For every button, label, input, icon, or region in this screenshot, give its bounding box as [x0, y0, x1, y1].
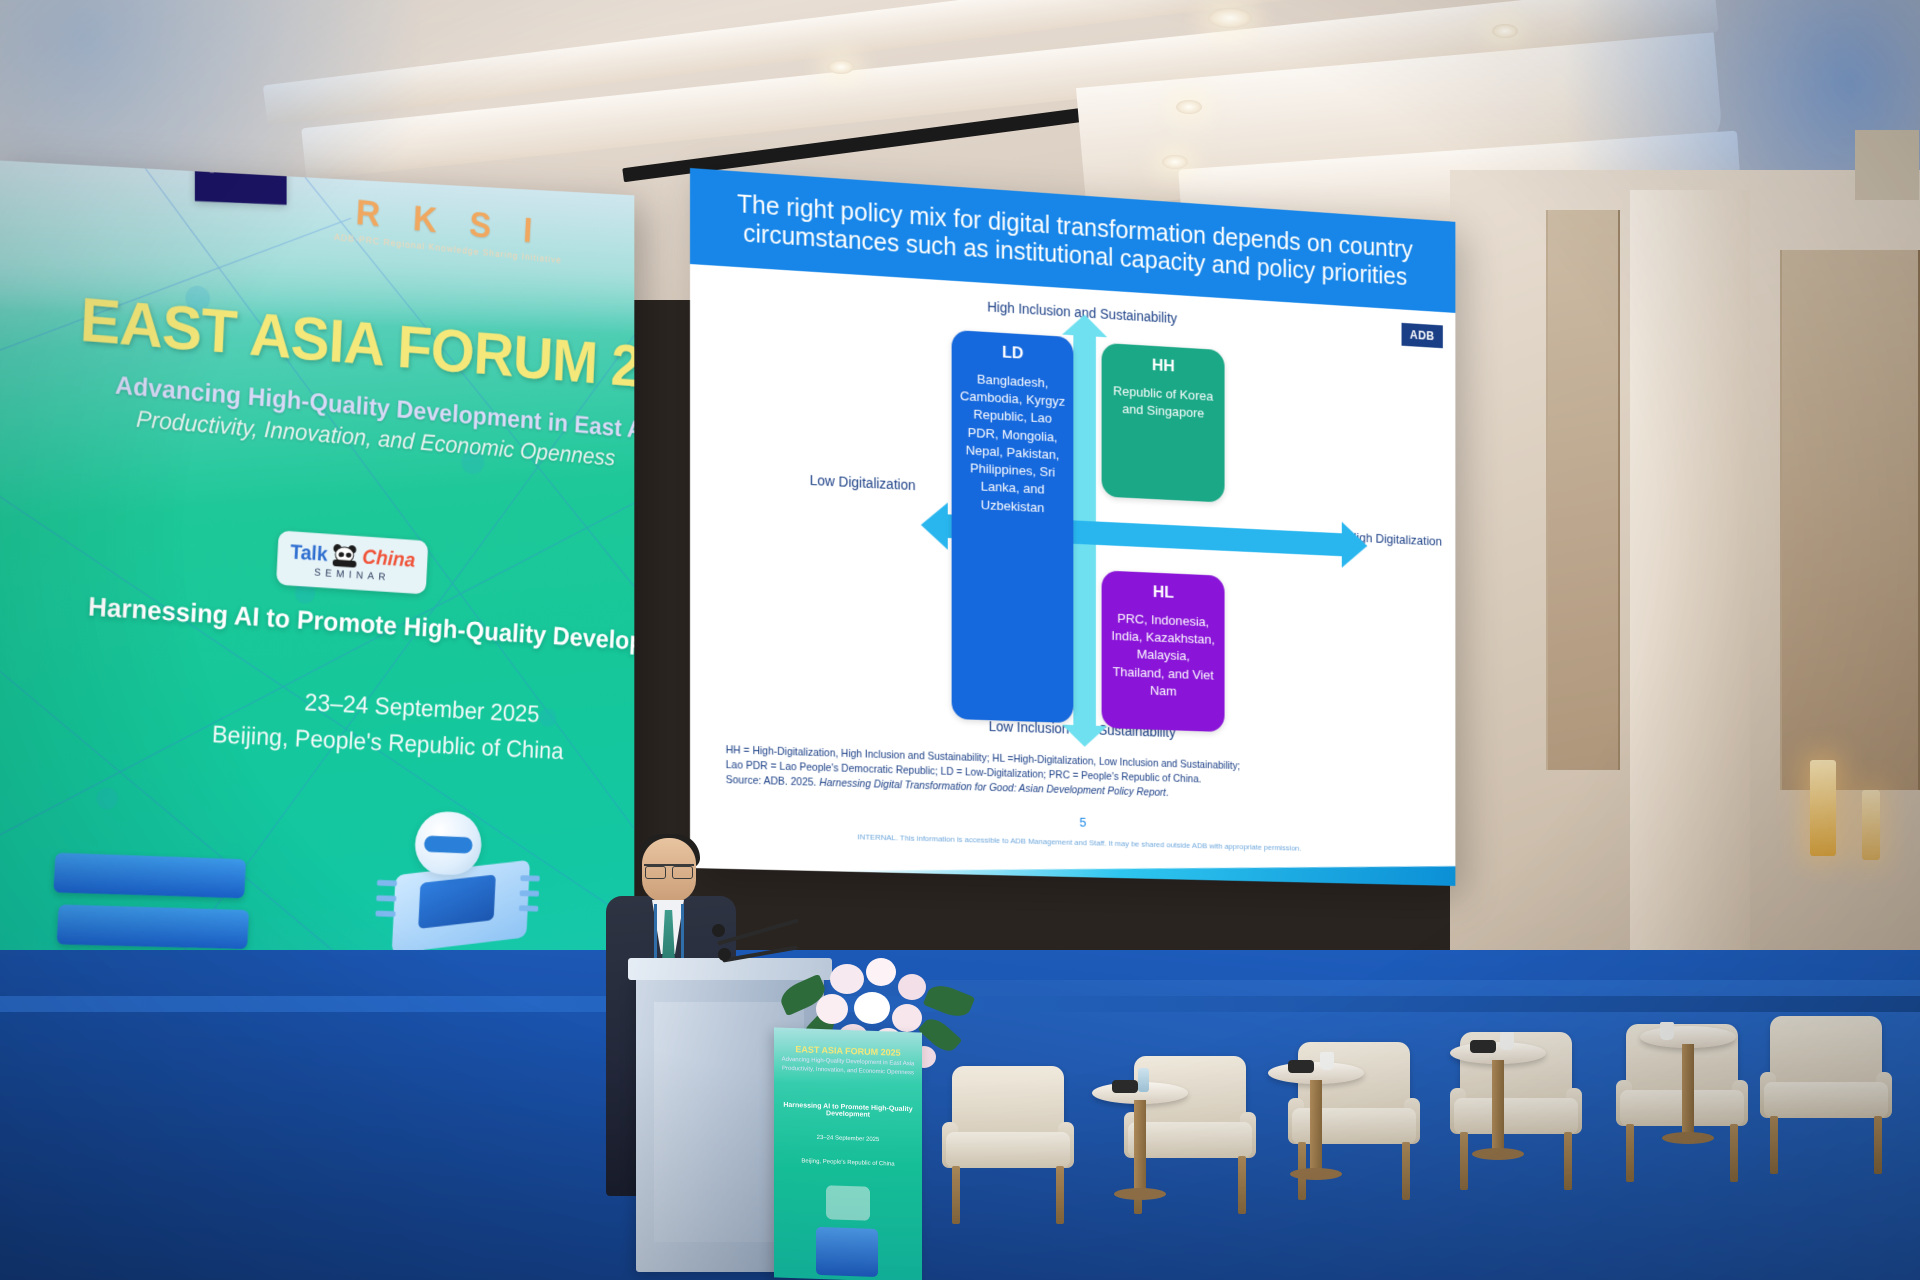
source-suffix: . — [1166, 788, 1169, 800]
axis-label-left: Low Digitalization — [804, 472, 920, 495]
event-backdrop-banner: ADB R K S I ADB-PRC Regional Knowledge S… — [0, 160, 634, 1060]
microphone-head-icon — [712, 924, 725, 937]
table-banner-stack-graphic — [816, 1227, 878, 1277]
wall-column — [1630, 190, 1750, 1070]
downlight-icon — [1492, 24, 1518, 38]
ceiling-vent — [1855, 130, 1919, 200]
quadrant-hh: HH Republic of Korea and Singapore — [1102, 343, 1225, 503]
quadrant-ld-countries: Bangladesh, Cambodia, Kyrgyz Republic, L… — [959, 370, 1066, 518]
cup — [1320, 1052, 1334, 1070]
quadrant-hl-countries: PRC, Indonesia, India, Kazakhstan, Malay… — [1109, 610, 1217, 702]
quadrant-hl: HL PRC, Indonesia, India, Kazakhstan, Ma… — [1102, 570, 1225, 732]
downlight-icon — [828, 60, 854, 74]
source-prefix: Source: ADB. 2025. — [726, 775, 820, 790]
quadrant-ld-label: LD — [959, 340, 1066, 366]
microphone-head-icon — [718, 948, 731, 961]
stage-chair — [1760, 1016, 1892, 1176]
panda-icon — [331, 543, 360, 568]
quadrant-hh-label: HH — [1109, 353, 1217, 379]
table-banner-theme: Harnessing AI to Promote High-Quality De… — [774, 1101, 922, 1120]
table-banner-subtitle-2: Productivity, Innovation, and Economic O… — [774, 1065, 922, 1076]
podium-table-banner: EAST ASIA FORUM 2025 Advancing High-Qual… — [774, 1027, 922, 1280]
quadrant-ld: LD Bangladesh, Cambodia, Kyrgyz Republic… — [952, 330, 1074, 723]
side-table — [1450, 1042, 1546, 1172]
quadrant-hl-label: HL — [1109, 580, 1217, 604]
robot-visor — [424, 836, 473, 854]
side-table — [1640, 1026, 1736, 1156]
table-microphone — [1112, 1080, 1138, 1093]
talk-label: Talk — [290, 541, 328, 567]
presentation-slide: The right policy mix for digital transfo… — [690, 168, 1455, 886]
table-banner-date: 23–24 September 2025 — [774, 1133, 922, 1144]
side-table — [1092, 1082, 1188, 1212]
table-banner-chip-graphic — [826, 1185, 870, 1221]
table-microphone — [1470, 1040, 1496, 1053]
glasses-icon — [644, 864, 694, 875]
side-table — [1268, 1062, 1364, 1192]
water-bottle — [1138, 1068, 1149, 1092]
cup — [1500, 1032, 1514, 1050]
stage-chair — [942, 1066, 1074, 1226]
downlight-icon — [1162, 155, 1188, 169]
quadrant-hh-countries: Republic of Korea and Singapore — [1109, 382, 1217, 423]
wood-wall-panel — [1780, 250, 1920, 790]
wall-sconce — [1862, 790, 1880, 860]
downlight-icon — [1208, 8, 1252, 28]
wall-sconce — [1810, 760, 1836, 856]
table-microphone — [1288, 1060, 1314, 1073]
slide-footnotes: HH = High-Digitalization, High Inclusion… — [726, 743, 1387, 808]
projection-screen: The right policy mix for digital transfo… — [690, 168, 1455, 886]
cup — [1660, 1022, 1674, 1040]
downlight-icon — [1176, 100, 1202, 114]
conference-photo-scene: ADB R K S I ADB-PRC Regional Knowledge S… — [0, 0, 1920, 1280]
talk-china-seminar-logo: Talk China SEMINAR — [276, 530, 428, 594]
china-label: China — [362, 546, 416, 573]
wood-wall-panel — [1546, 210, 1620, 770]
table-banner-place: Beijing, People's Republic of China — [774, 1157, 922, 1168]
